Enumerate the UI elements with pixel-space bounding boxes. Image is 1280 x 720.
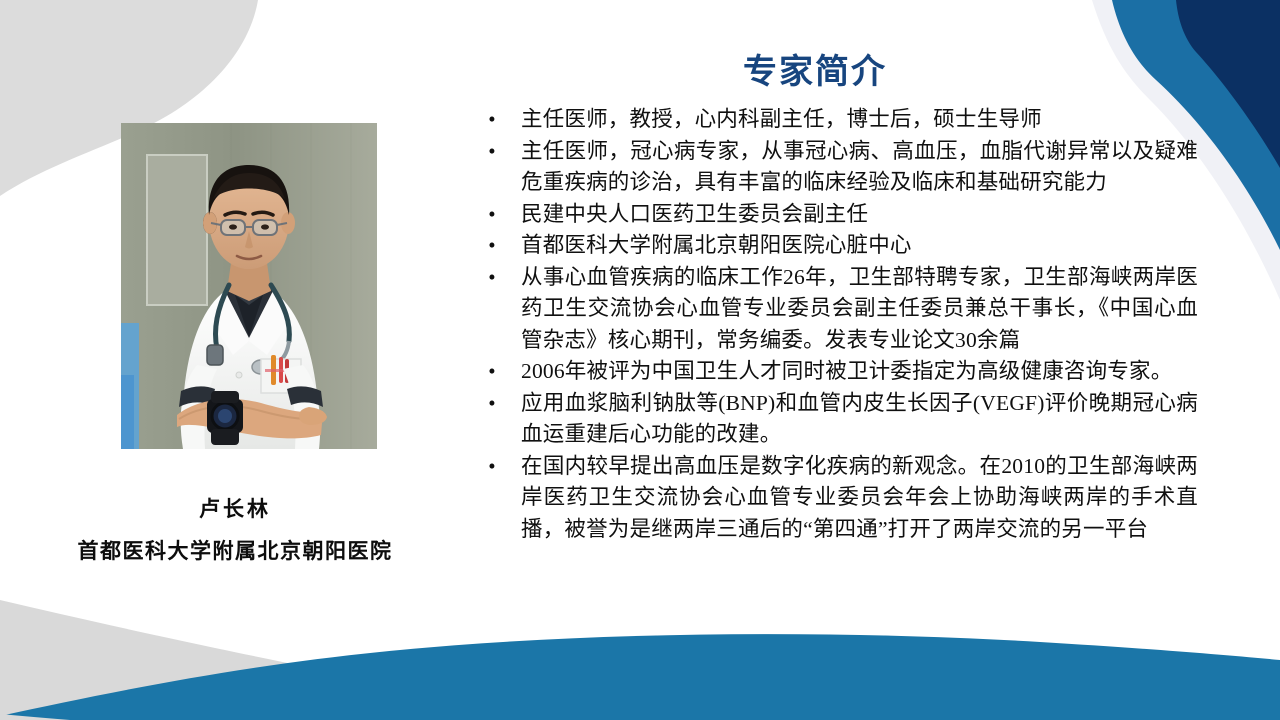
list-item-text: 应用血浆脑利钠肽等(BNP)和血管内皮生长因子(VEGF)评价晚期冠心病血运重建… bbox=[521, 388, 1198, 451]
biography-bullet-list: • 主任医师，教授，心内科副主任，博士后，硕士生导师 • 主任医师，冠心病专家，… bbox=[474, 104, 1198, 545]
list-item: • 应用血浆脑利钠肽等(BNP)和血管内皮生长因子(VEGF)评价晚期冠心病血运… bbox=[474, 388, 1198, 451]
list-item: • 在国内较早提出高血压是数字化疾病的新观念。在2010的卫生部海峡两岸医药卫生… bbox=[474, 451, 1198, 546]
list-item: • 首都医科大学附属北京朝阳医院心脏中心 bbox=[474, 230, 1198, 262]
doctor-photo bbox=[121, 123, 377, 449]
bullet-icon: • bbox=[486, 199, 498, 231]
list-item: • 主任医师，教授，心内科副主任，博士后，硕士生导师 bbox=[474, 104, 1198, 136]
list-item-text: 主任医师，教授，心内科副主任，博士后，硕士生导师 bbox=[521, 104, 1198, 136]
bullet-icon: • bbox=[486, 451, 498, 483]
profile-column: 卢长林 首都医科大学附属北京朝阳医院 bbox=[0, 0, 470, 720]
doctor-affiliation: 首都医科大学附属北京朝阳医院 bbox=[0, 537, 470, 565]
list-item-text: 主任医师，冠心病专家，从事冠心病、高血压，血脂代谢异常以及疑难危重疾病的诊治，具… bbox=[521, 136, 1198, 199]
presentation-slide: 专家简介 bbox=[0, 0, 1280, 720]
bullet-icon: • bbox=[486, 356, 498, 388]
slide-title-text: 专家简介 bbox=[743, 44, 887, 93]
bullet-icon: • bbox=[486, 262, 498, 294]
bullet-icon: • bbox=[486, 388, 498, 420]
doctor-name: 卢长林 bbox=[0, 495, 470, 523]
list-item: • 民建中央人口医药卫生委员会副主任 bbox=[474, 199, 1198, 231]
doctor-identity: 卢长林 首都医科大学附属北京朝阳医院 bbox=[0, 495, 470, 566]
doctor-photo-image bbox=[121, 123, 377, 449]
list-item-text: 在国内较早提出高血压是数字化疾病的新观念。在2010的卫生部海峡两岸医药卫生交流… bbox=[521, 451, 1198, 546]
bullet-icon: • bbox=[486, 230, 498, 262]
list-item: • 2006年被评为中国卫生人才同时被卫计委指定为高级健康咨询专家。 bbox=[474, 356, 1198, 388]
list-item: • 主任医师，冠心病专家，从事冠心病、高血压，血脂代谢异常以及疑难危重疾病的诊治… bbox=[474, 136, 1198, 199]
bullet-icon: • bbox=[486, 104, 498, 136]
slide-title: 专家简介 bbox=[0, 44, 1280, 93]
list-item: • 从事心血管疾病的临床工作26年，卫生部特聘专家，卫生部海峡两岸医药卫生交流协… bbox=[474, 262, 1198, 357]
list-item-text: 民建中央人口医药卫生委员会副主任 bbox=[521, 199, 1198, 231]
list-item-text: 首都医科大学附属北京朝阳医院心脏中心 bbox=[521, 230, 1198, 262]
list-item-text: 从事心血管疾病的临床工作26年，卫生部特聘专家，卫生部海峡两岸医药卫生交流协会心… bbox=[521, 262, 1198, 357]
list-item-text: 2006年被评为中国卫生人才同时被卫计委指定为高级健康咨询专家。 bbox=[521, 356, 1198, 388]
bullet-icon: • bbox=[486, 136, 498, 168]
